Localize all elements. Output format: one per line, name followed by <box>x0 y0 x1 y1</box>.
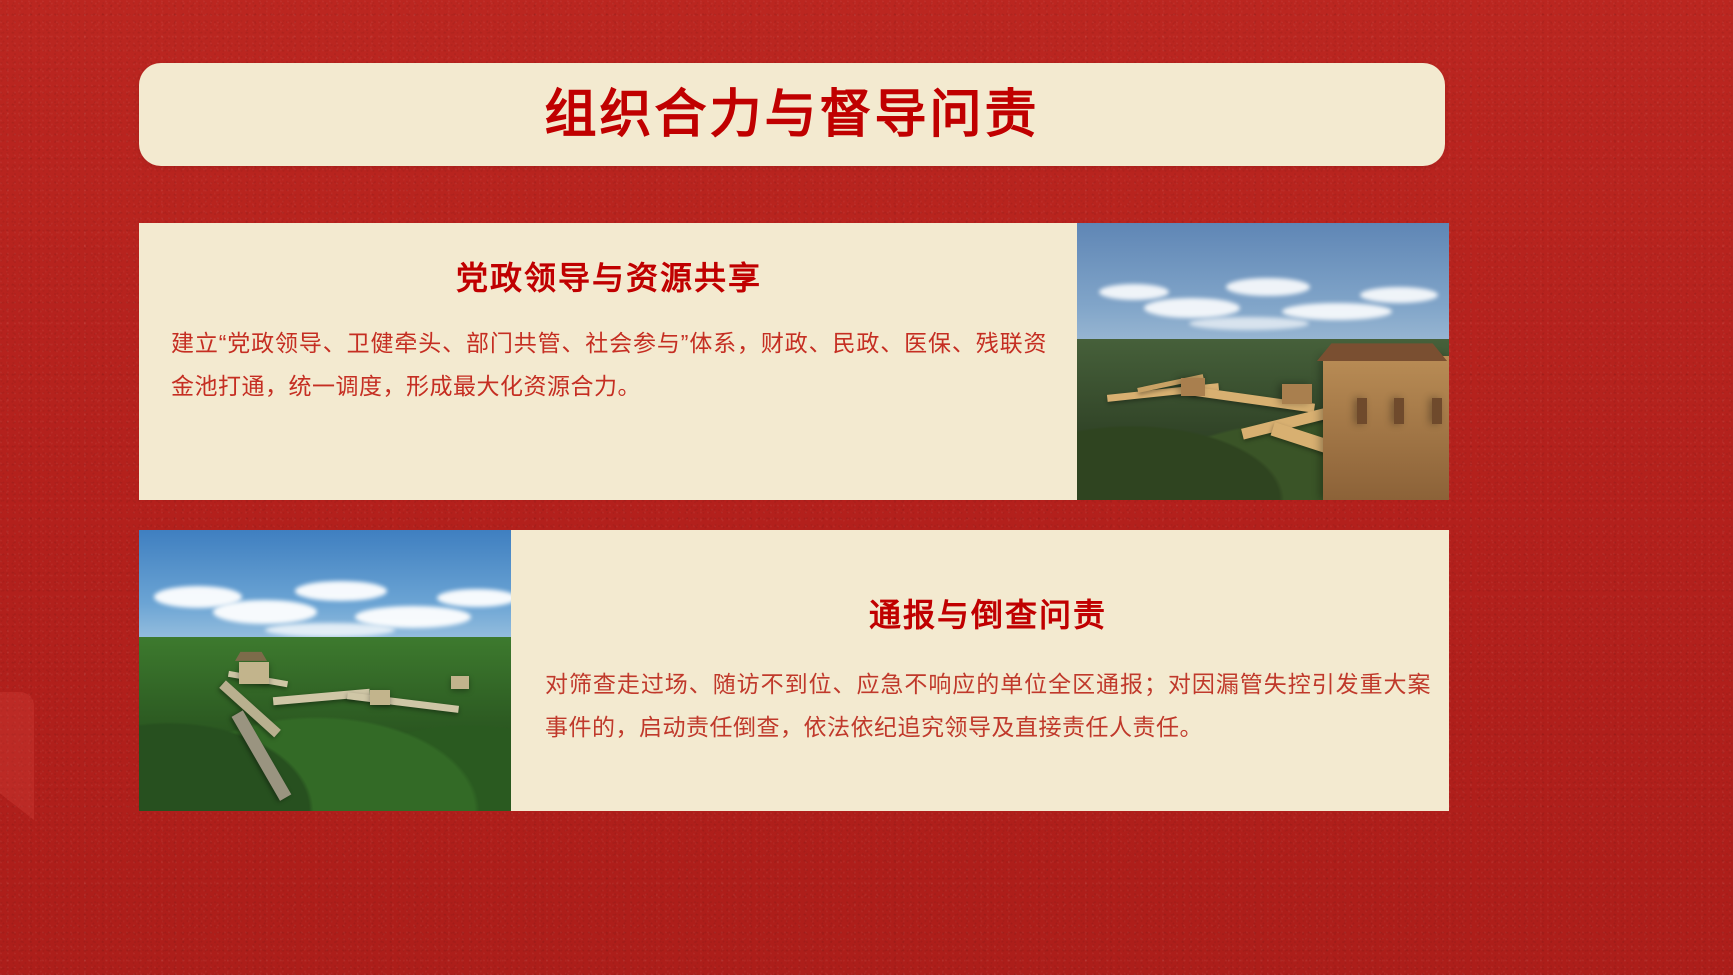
card-2-text-column: 通报与倒查问责 对筛查走过场、随访不到位、应急不响应的单位全区通报；对因漏管失控… <box>511 530 1449 811</box>
great-wall-sunset-image <box>1077 223 1449 500</box>
great-wall-green-image <box>139 530 511 811</box>
page-title: 组织合力与督导问责 <box>544 89 1039 141</box>
content-card-1: 党政领导与资源共享 建立“党政领导、卫健牵头、部门共管、社会参与”体系，财政、民… <box>139 223 1449 500</box>
card-1-photo <box>1077 223 1449 500</box>
content-card-2: 通报与倒查问责 对筛查走过场、随访不到位、应急不响应的单位全区通报；对因漏管失控… <box>139 530 1449 811</box>
ribbon-shape <box>0 692 34 820</box>
card-2-heading: 通报与倒查问责 <box>545 598 1431 633</box>
decorative-edge-ornament <box>0 692 52 952</box>
card-2-photo <box>139 530 511 811</box>
card-1-text-column: 党政领导与资源共享 建立“党政领导、卫健牵头、部门共管、社会参与”体系，财政、民… <box>139 223 1077 500</box>
slide-canvas: 组织合力与督导问责 党政领导与资源共享 建立“党政领导、卫健牵头、部门共管、社会… <box>0 0 1733 975</box>
card-1-body: 建立“党政领导、卫健牵头、部门共管、社会参与”体系，财政、民政、医保、残联资金池… <box>171 322 1047 407</box>
card-1-heading: 党政领导与资源共享 <box>171 261 1047 296</box>
card-2-body: 对筛查走过场、随访不到位、应急不响应的单位全区通报；对因漏管失控引发重大案事件的… <box>545 663 1431 748</box>
title-panel: 组织合力与督导问责 <box>139 63 1445 166</box>
